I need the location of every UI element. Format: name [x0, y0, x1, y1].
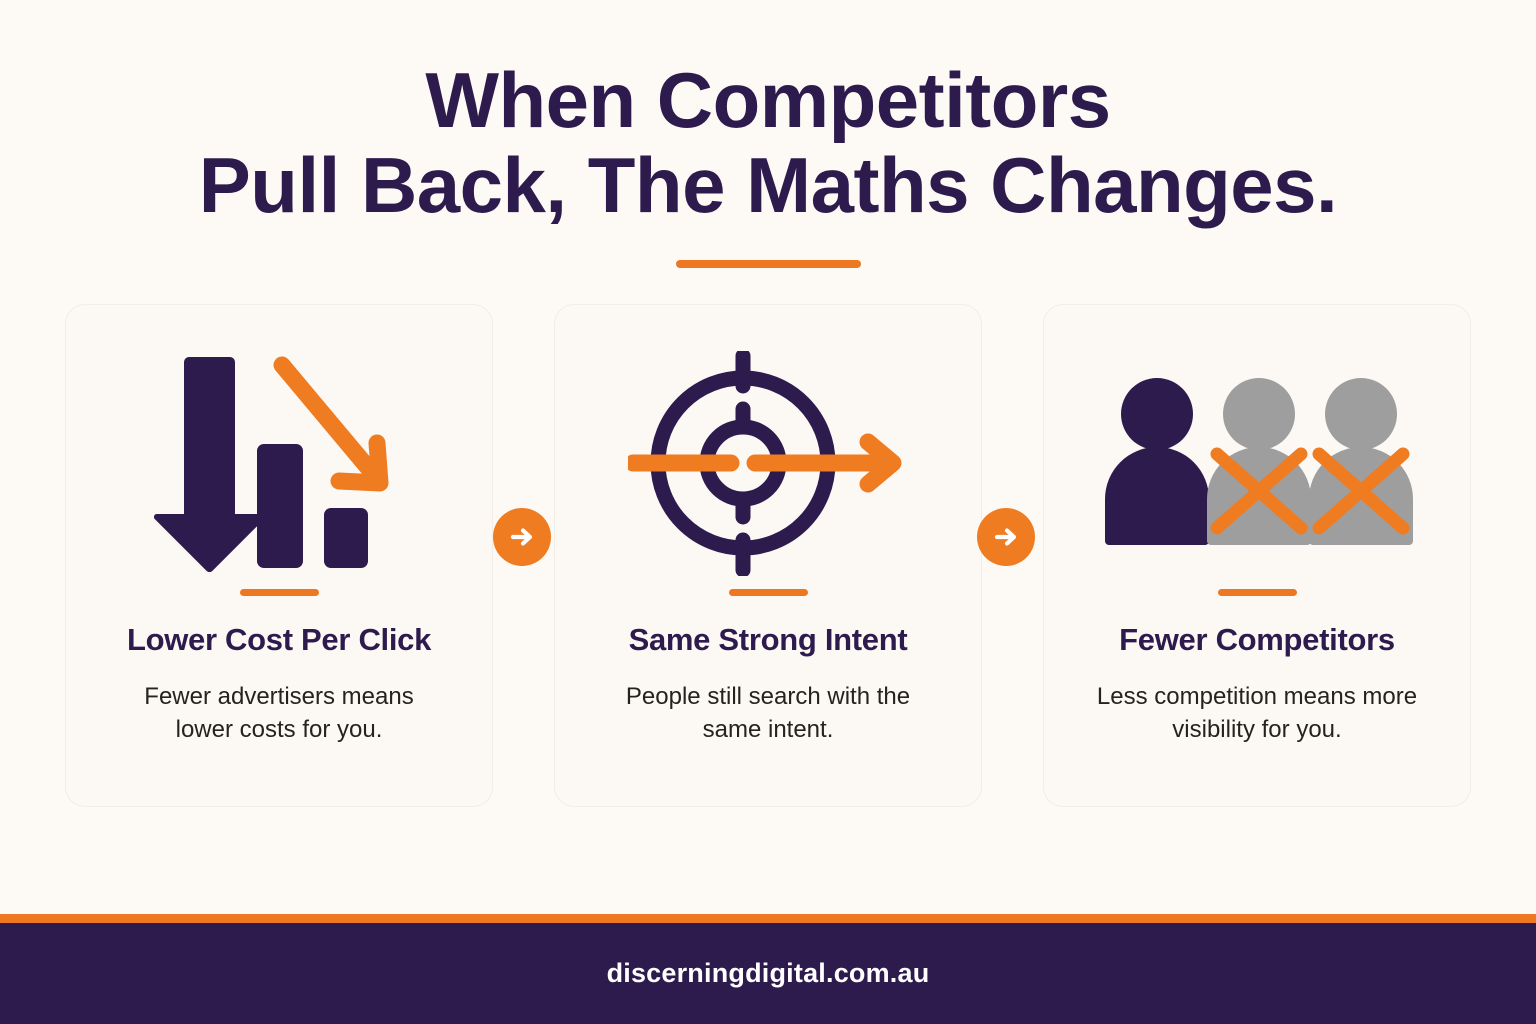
- footer-website[interactable]: discerningdigital.com.au: [607, 958, 930, 989]
- title-line-1: When Competitors: [90, 58, 1446, 143]
- card-divider: [729, 589, 808, 596]
- card-title: Fewer Competitors: [1119, 622, 1395, 658]
- card-same-strong-intent[interactable]: Same Strong Intent People still search w…: [554, 304, 982, 807]
- footer-accent-rule: [0, 914, 1536, 923]
- card-description: Less competition means more visibility f…: [1092, 680, 1422, 746]
- card-fewer-competitors[interactable]: Fewer Competitors Less competition means…: [1043, 304, 1471, 807]
- header: When Competitors Pull Back, The Maths Ch…: [0, 0, 1536, 268]
- target-crosshair-icon: [555, 345, 981, 581]
- declining-bar-chart-icon: [66, 345, 492, 581]
- footer-spacer: [0, 807, 1536, 914]
- page-title: When Competitors Pull Back, The Maths Ch…: [0, 58, 1536, 228]
- footer: discerningdigital.com.au: [0, 923, 1536, 1024]
- cards-row: Lower Cost Per Click Fewer advertisers m…: [0, 304, 1536, 807]
- title-accent-bar: [676, 260, 861, 268]
- card-divider: [1218, 589, 1297, 596]
- person-icon-removed-2: [1309, 378, 1413, 545]
- person-icon-active: [1105, 378, 1209, 545]
- card-lower-cost-per-click[interactable]: Lower Cost Per Click Fewer advertisers m…: [65, 304, 493, 807]
- fewer-people-icon: [1044, 345, 1470, 581]
- infographic-page: When Competitors Pull Back, The Maths Ch…: [0, 0, 1536, 1024]
- card-title: Same Strong Intent: [629, 622, 908, 658]
- card-description: Fewer advertisers means lower costs for …: [114, 680, 444, 746]
- arrow-right-icon: [991, 522, 1021, 552]
- card-description: People still search with the same intent…: [603, 680, 933, 746]
- connector-arrow-2: [977, 508, 1035, 566]
- connector-arrow-1: [493, 508, 551, 566]
- arrow-right-icon: [507, 522, 537, 552]
- card-title: Lower Cost Per Click: [127, 622, 431, 658]
- person-icon-removed-1: [1207, 378, 1311, 545]
- title-line-2: Pull Back, The Maths Changes.: [90, 143, 1446, 228]
- card-divider: [240, 589, 319, 596]
